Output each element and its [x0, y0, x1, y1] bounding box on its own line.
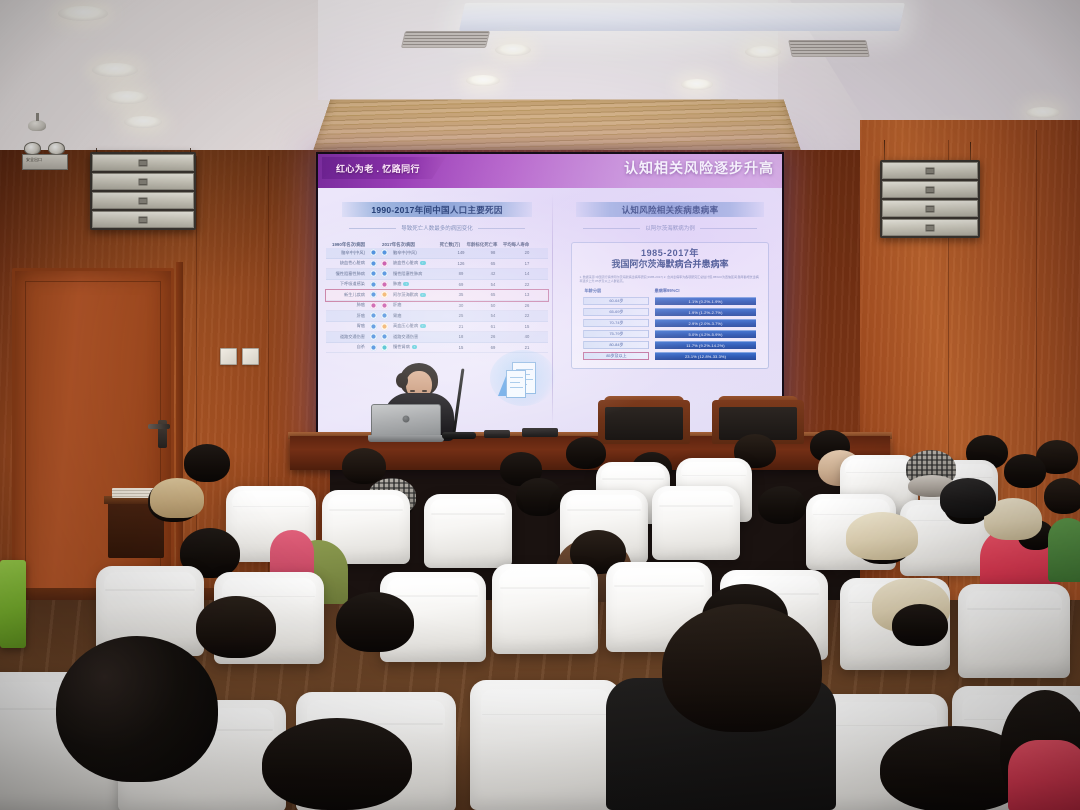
downlight-1 [58, 6, 108, 21]
prevalence-box: 1985-2017年 我国阿尔茨海默病合并患病率 1. 数据来源:中国流行病学阿… [571, 242, 768, 369]
slide-header-title: 认知相关风险逐步升高 [624, 157, 774, 179]
table-row: 65-69岁1.9% (1.2%-2.7%) [578, 307, 761, 317]
cell-lifespan: 17 [510, 261, 544, 266]
trend-up-badge: ↑ [420, 261, 426, 265]
cell-rate: 98 [476, 250, 510, 255]
cell-cause-2017: 慢性肾病↑ [390, 344, 446, 350]
left-panel-heading: 1990-2017年间中国人口主要死因 [342, 202, 532, 217]
cell-cause-2017: 胃癌 [390, 313, 446, 319]
prevalence-table: 年龄分层 患病率95%CI 60-64岁1.1% (0.2%-1.9%)65-6… [578, 288, 761, 361]
speaker-unit-1 [92, 154, 194, 171]
rank-dot-icon [381, 291, 388, 298]
table-row: 75-79岁5.0% (4.2%-5.9%) [578, 329, 761, 339]
table-row: 道路交通伤害道路交通伤害182640 [326, 332, 548, 343]
table-row: 肺癌肝癌305026 [326, 301, 548, 312]
lecture-hall-photo: 安全出口 红心为老 . 忆路同行 认知相关风险逐步升高 1990-201 [0, 0, 1080, 810]
col-header-rate: 年龄标化死亡率 [465, 242, 499, 248]
table-row: 新生儿疾病阿尔茨海默病↑356513 [326, 290, 548, 301]
cell-deaths: 30 [446, 303, 476, 308]
table-row: 胃癌高血压心脏病↑216115 [326, 322, 548, 333]
cell-rate: 26 [476, 334, 510, 339]
laptop-logo-icon [403, 415, 410, 422]
death-cause-table-header: 1990年名次/病因 2017年名次/病因 死亡数(万) 年龄标化死亡率 平均每… [326, 238, 548, 248]
rank-dot-icon [370, 312, 377, 319]
prevalence-table-header: 年龄分层 患病率95%CI [578, 288, 761, 294]
cell-cause-2017: 阿尔茨海默病↑ [390, 292, 446, 298]
audience-head [342, 448, 386, 484]
cell-cause-1990: 新生儿疾病 [326, 292, 368, 298]
rank-dot-icon [370, 270, 377, 277]
slide-left-panel: 1990-2017年间中国人口主要死因 导致死亡人数最多的病因变化 1990年名… [324, 194, 550, 353]
cell-prevalence-bar: 11.7% (9.2%-14.2%) [655, 341, 755, 349]
emergency-exit-light: 安全出口 [22, 142, 68, 170]
cell-rate: 65 [476, 261, 510, 266]
trend-up-badge: ↑ [420, 293, 426, 297]
cell-lifespan: 22 [510, 313, 544, 318]
cell-cause-2017: 缺血性心脏病↑ [390, 260, 446, 266]
table-row: 慢性阻塞性肺病慢性阻塞性肺病894214 [326, 269, 548, 280]
rank-dot-icon [381, 302, 388, 309]
prevalence-box-title: 1985-2017年 我国阿尔茨海默病合并患病率 [576, 248, 763, 270]
table-row: 70-74岁2.9% (2.0%-3.7%) [578, 318, 761, 328]
presenter-laptop[interactable] [368, 404, 444, 442]
cell-rate: 54 [476, 282, 510, 287]
cell-cause-1990: 缺血性心脏病 [326, 260, 368, 266]
downlight-2 [92, 63, 138, 77]
desk-remote-control[interactable] [484, 430, 510, 438]
cell-prevalence-bar: 5.0% (4.2%-5.9%) [655, 330, 755, 338]
right-panel-sub-text: 以阿尔茨海默病为例 [645, 224, 695, 232]
cell-cause-2017: 脑卒中(中风) [390, 250, 446, 256]
speaker-logo-icon [139, 159, 148, 166]
cell-cause-2017: 肝癌 [390, 302, 446, 308]
downlight-6 [466, 75, 500, 86]
speaker-logo-icon [926, 224, 935, 231]
audience-head [56, 636, 218, 782]
cell-cause-1990: 肺癌 [326, 302, 368, 308]
speaker-unit-2 [92, 173, 194, 190]
cell-lifespan: 22 [510, 282, 544, 287]
rank-dot-icon [381, 312, 388, 319]
speaker-logo-icon [139, 178, 148, 185]
rank-dot-icon [370, 281, 377, 288]
cell-deaths: 15 [446, 345, 476, 350]
table-row: 下呼吸道感染肺癌↑695422 [326, 280, 548, 291]
audience-cap-cream [846, 512, 918, 560]
rank-dot-icon [370, 323, 377, 330]
table-row: 60-64岁1.1% (0.2%-1.9%) [578, 296, 761, 306]
cell-cause-1990: 道路交通伤害 [326, 334, 368, 340]
cell-deaths: 149 [446, 250, 476, 255]
cell-rate: 65 [476, 292, 510, 297]
cell-cause-1990: 自杀 [326, 344, 368, 350]
col-header-age: 年龄分层 [578, 288, 648, 294]
cell-prevalence-bar: 2.9% (2.0%-3.7%) [655, 319, 755, 327]
audience-head [336, 592, 414, 652]
cell-cause-1990: 下呼吸道感染 [326, 281, 368, 287]
green-bag [0, 560, 26, 648]
speaker-array-right [880, 160, 980, 238]
cell-rate: 69 [476, 345, 510, 350]
audience-head [262, 718, 412, 810]
cell-cause-1990: 肝癌 [326, 313, 368, 319]
laptop-base [368, 435, 444, 442]
cell-deaths: 21 [446, 324, 476, 329]
audience-head [566, 437, 606, 469]
ac-vent-left [401, 31, 490, 48]
cell-rate: 50 [476, 303, 510, 308]
linear-ceiling-light [459, 3, 905, 31]
cell-age-group: 75-79岁 [583, 330, 649, 338]
table-row: 肝癌胃癌255422 [326, 311, 548, 322]
rank-dot-icon [370, 344, 377, 351]
table-row: 缺血性心脏病缺血性心脏病↑1266517 [326, 259, 548, 270]
audience-head [758, 486, 806, 524]
table-row: 脑卒中(中风)脑卒中(中风)1499820 [326, 248, 548, 259]
downlight-7 [681, 79, 713, 90]
audience-chair[interactable] [958, 584, 1070, 678]
illustration-sheet-front [506, 370, 526, 398]
rank-dot-icon [381, 323, 388, 330]
col-header-lifespan: 平均每人寿命 [499, 242, 533, 248]
cell-deaths: 25 [446, 313, 476, 318]
col-header-1990: 1990年名次/病因 [326, 242, 368, 248]
speaker-logo-icon [926, 205, 935, 212]
speaker-unit-4 [92, 211, 194, 228]
audience-chair[interactable] [424, 494, 512, 568]
cell-prevalence-bar: 1.9% (1.2%-2.7%) [655, 308, 755, 316]
cell-age-group: 60-64岁 [583, 297, 649, 305]
speaker-unit-3 [882, 200, 978, 217]
speaker-logo-icon [139, 216, 148, 223]
light-switch-1[interactable] [220, 348, 237, 365]
emergency-light-body: 安全出口 [22, 154, 68, 170]
cell-age-group: 65-69岁 [583, 308, 649, 316]
emergency-light-label: 安全出口 [26, 157, 42, 162]
wood-soffit-panel [313, 100, 801, 150]
cell-lifespan: 13 [510, 292, 544, 297]
slide-header-bar: 红心为老 . 忆路同行 认知相关风险逐步升高 [318, 154, 782, 188]
audience-cap-tan [150, 478, 204, 518]
audience-head [184, 444, 230, 482]
left-panel-sub-text: 导致死亡人数最多的病因变化 [401, 224, 473, 232]
left-panel-subheading: 导致死亡人数最多的病因变化 [349, 224, 525, 232]
cell-prevalence-bar: 1.1% (0.2%-1.9%) [655, 297, 755, 305]
speaker-array-left [90, 152, 196, 230]
cctv-camera-icon [28, 120, 48, 134]
speaker-wire-right-a [884, 140, 885, 162]
cell-deaths: 89 [446, 271, 476, 276]
rank-dot-icon [370, 333, 377, 340]
cell-cause-2017: 慢性阻塞性肺病 [390, 271, 446, 277]
col-header-deaths: 死亡数(万) [435, 242, 465, 248]
microphone-base [442, 432, 476, 439]
speaker-logo-icon [926, 167, 935, 174]
audience-chair[interactable] [652, 486, 740, 560]
cell-cause-2017: 道路交通伤害 [390, 334, 446, 340]
cell-cause-2017: 高血压心脏病↑ [390, 323, 446, 329]
cell-cause-1990: 胃癌 [326, 323, 368, 329]
col-header-prevalence: 患病率95%CI [648, 288, 761, 294]
trend-up-badge: ↑ [412, 345, 418, 349]
table-row: 85岁及以上23.1% (12.8%-33.3%) [578, 351, 761, 361]
trend-up-badge: ↑ [403, 282, 409, 286]
door-handle-bar-icon[interactable] [148, 424, 170, 429]
downlight-3 [106, 91, 148, 104]
cell-deaths: 18 [446, 334, 476, 339]
laptop-lid [371, 404, 441, 436]
cell-lifespan: 20 [510, 250, 544, 255]
audience-chair[interactable] [470, 680, 620, 810]
audience-jacket-red [1008, 740, 1080, 810]
audience-chair[interactable] [492, 564, 598, 654]
cell-age-group: 85岁及以上 [583, 352, 649, 360]
cell-lifespan: 15 [510, 324, 544, 329]
cell-lifespan: 21 [510, 345, 544, 350]
cell-rate: 54 [476, 313, 510, 318]
downlight-5 [495, 44, 531, 56]
cell-cause-1990: 脑卒中(中风) [326, 250, 368, 256]
downlight-9 [1026, 107, 1060, 118]
cell-deaths: 69 [446, 282, 476, 287]
audience-head [892, 604, 948, 646]
right-panel-subheading: 以阿尔茨海默病为例 [583, 224, 758, 232]
cell-lifespan: 40 [510, 334, 544, 339]
col-header-2017: 2017年名次/病因 [379, 242, 435, 248]
presenter-hair-bun [396, 373, 408, 388]
cell-lifespan: 26 [510, 303, 544, 308]
audience-head [1044, 478, 1080, 514]
rank-dot-icon [381, 270, 388, 277]
rank-dot-icon [370, 291, 377, 298]
prevalence-subject: 我国阿尔茨海默病合并患病率 [576, 259, 763, 270]
desk-notebook [522, 428, 558, 437]
speaker-logo-icon [139, 197, 148, 204]
speaker-logo-icon [926, 186, 935, 193]
cell-lifespan: 14 [510, 271, 544, 276]
cell-rate: 61 [476, 324, 510, 329]
trend-up-badge: ↑ [420, 324, 426, 328]
slide-header-tag: 红心为老 . 忆路同行 [322, 157, 446, 179]
light-switch-2[interactable] [242, 348, 259, 365]
cell-rate: 42 [476, 271, 510, 276]
audience-head [196, 596, 276, 658]
cell-age-group: 70-74岁 [583, 319, 649, 327]
podium-chair-1[interactable] [598, 392, 690, 444]
speaker-unit-3 [92, 192, 194, 209]
ac-vent-right [788, 40, 870, 57]
speaker-unit-4 [882, 219, 978, 236]
right-panel-heading: 认知风险相关疾病患病率 [576, 202, 764, 217]
prevalence-years: 1985-2017年 [576, 248, 763, 259]
audience-jacket-green [1048, 518, 1080, 582]
cell-deaths: 35 [446, 292, 476, 297]
slide-illustration [490, 350, 556, 406]
audience-head [1004, 454, 1046, 488]
audience-cap-black [940, 478, 996, 518]
rank-dot-icon [370, 249, 377, 256]
audience-head [516, 478, 562, 516]
speaker-unit-2 [882, 181, 978, 198]
downlight-4 [124, 116, 162, 128]
cell-prevalence-bar: 23.1% (12.8%-33.3%) [655, 352, 755, 360]
rank-dot-icon [381, 333, 388, 340]
cell-age-group: 80-84岁 [583, 341, 649, 349]
table-row: 80-84岁11.7% (9.2%-14.2%) [578, 340, 761, 350]
rank-dot-icon [381, 260, 388, 267]
rank-dot-icon [370, 260, 377, 267]
downlight-8 [745, 46, 781, 58]
rank-dot-icon [381, 249, 388, 256]
speaker-unit-1 [882, 162, 978, 179]
cell-cause-1990: 慢性阻塞性肺病 [326, 271, 368, 277]
rank-dot-icon [381, 281, 388, 288]
audience-head [662, 604, 822, 732]
cell-deaths: 126 [446, 261, 476, 266]
rank-dot-icon [381, 344, 388, 351]
prevalence-note: 1. 数据来源:中国流行病学阿尔茨海默病患病率研究(1985-2017) 2. … [579, 275, 760, 283]
death-cause-table: 1990年名次/病因 2017年名次/病因 死亡数(万) 年龄标化死亡率 平均每… [326, 238, 548, 353]
rank-dot-icon [370, 302, 377, 309]
cell-cause-2017: 肺癌↑ [390, 281, 446, 287]
slide-right-panel: 认知风险相关疾病患病率 以阿尔茨海默病为例 1985-2017年 我国阿尔茨海默… [558, 194, 782, 369]
